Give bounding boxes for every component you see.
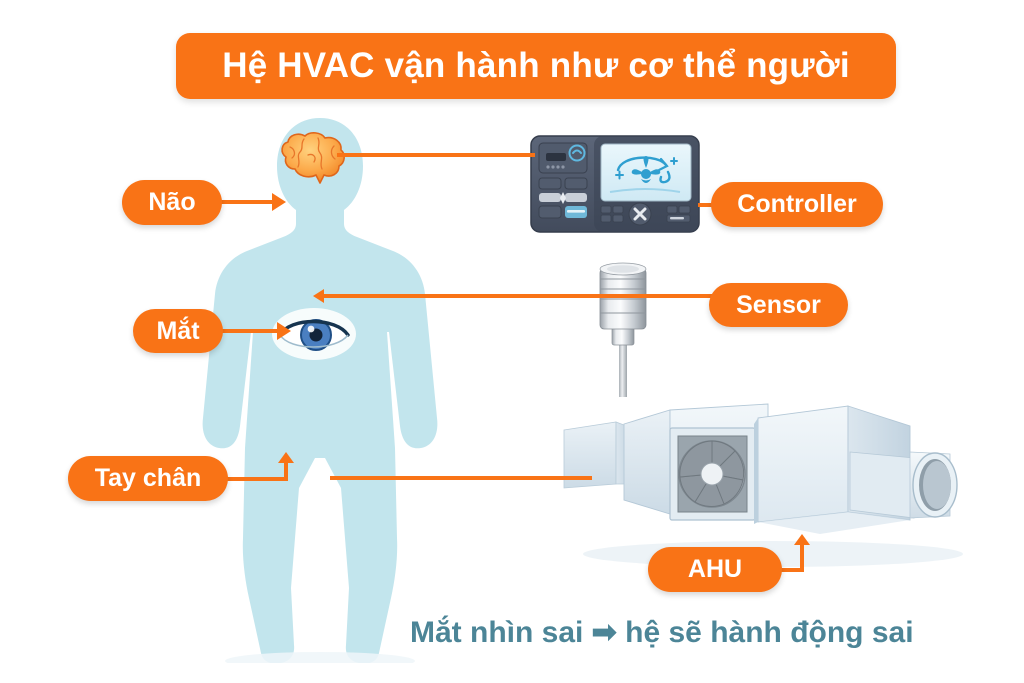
- label-sensor-text: Sensor: [736, 291, 821, 320]
- arrow-ahu-label: [794, 534, 810, 545]
- label-controller-text: Controller: [737, 190, 856, 219]
- connector-brain-label: [218, 200, 274, 204]
- label-controller[interactable]: Controller: [711, 182, 883, 227]
- hvac-controller-panel: [530, 134, 700, 234]
- connector-limbs-h: [224, 477, 288, 481]
- connector-ahu-body: [330, 476, 592, 480]
- arrow-brain-label: [272, 193, 286, 211]
- connector-ahu-label-v: [800, 544, 804, 570]
- duct-sensor-probe: [578, 255, 668, 400]
- arrow-eye-label: [277, 322, 291, 340]
- label-brain-text: Não: [148, 188, 195, 217]
- infographic-canvas: Hệ HVAC vận hành như cơ thể người: [0, 0, 1024, 683]
- label-ahu[interactable]: AHU: [648, 547, 782, 592]
- label-eye[interactable]: Mắt: [133, 309, 223, 353]
- label-limbs-text: Tay chân: [95, 464, 202, 493]
- label-eye-text: Mắt: [156, 317, 199, 346]
- label-brain[interactable]: Não: [122, 180, 222, 225]
- connector-eye-label: [219, 329, 279, 333]
- label-limbs[interactable]: Tay chân: [68, 456, 228, 501]
- label-ahu-text: AHU: [688, 555, 742, 584]
- bottom-caption: Mắt nhìn sai ➡ hệ sẽ hành động sai: [410, 610, 980, 654]
- arrow-limbs: [278, 452, 294, 463]
- air-handling-unit: [558, 392, 968, 567]
- bottom-caption-text: Mắt nhìn sai ➡ hệ sẽ hành động sai: [410, 615, 914, 650]
- label-sensor[interactable]: Sensor: [709, 283, 848, 327]
- page-title: Hệ HVAC vận hành như cơ thể người: [176, 33, 896, 99]
- brain-icon: [276, 131, 348, 187]
- connector-sensor-label: [598, 294, 716, 298]
- page-title-text: Hệ HVAC vận hành như cơ thể người: [222, 46, 850, 86]
- connector-limbs-v: [284, 462, 288, 480]
- arrow-sensor-body: [313, 289, 324, 303]
- centrifugal-fan: [679, 441, 745, 507]
- connector-brain-controller: [337, 153, 535, 157]
